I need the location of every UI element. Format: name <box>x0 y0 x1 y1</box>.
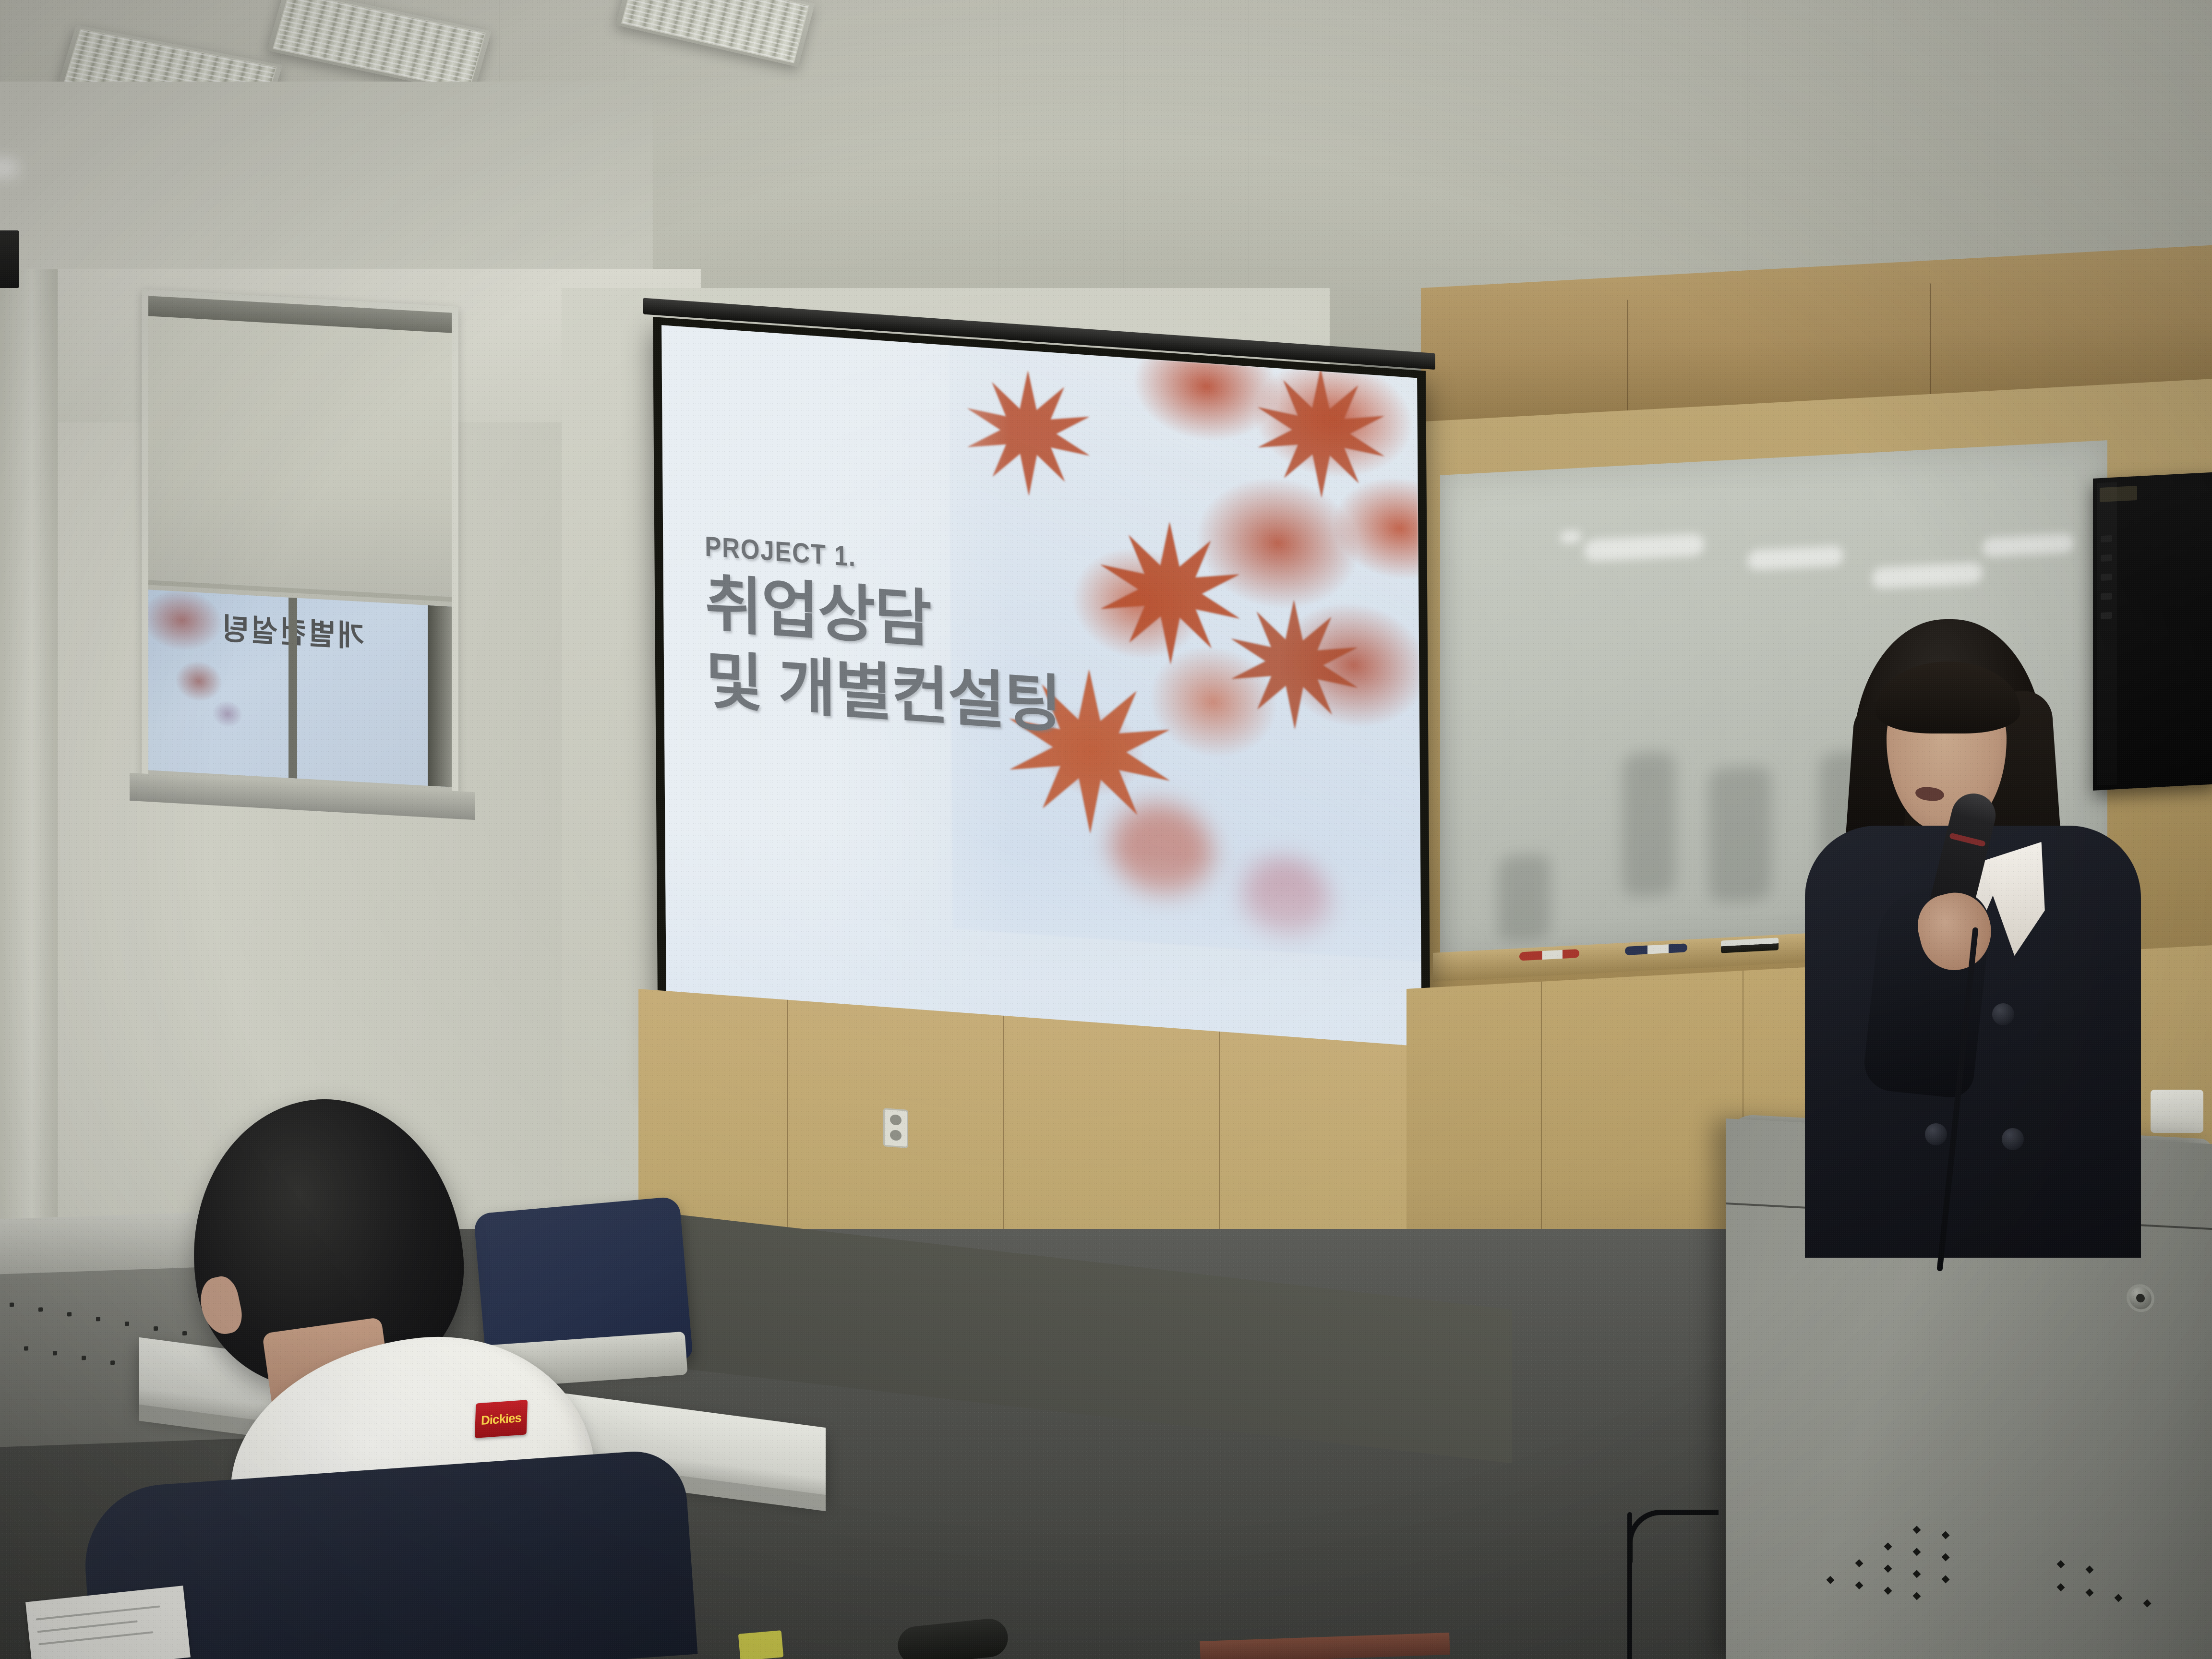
window-blind[interactable] <box>148 316 452 601</box>
presenter <box>1795 619 2160 1253</box>
monitor-logo <box>2100 486 2137 502</box>
slide-text-block: PROJECT 1. 취업상담 및 개별컨설팅 <box>705 530 1061 740</box>
lectern-lock-right[interactable] <box>2127 1284 2154 1313</box>
wall-power-outlet[interactable] <box>883 1108 908 1148</box>
lectern-cable-bend <box>1627 1510 1719 1563</box>
classroom-photo-scene: 개별컨설팅 <box>0 0 2212 1659</box>
red-marker[interactable] <box>1519 949 1579 961</box>
floor-label-sticker <box>738 1630 784 1659</box>
wall-pillar <box>0 269 58 1373</box>
window-glass: 개별컨설팅 <box>148 589 452 787</box>
blue-marker[interactable] <box>1625 943 1687 955</box>
whiteboard-eraser[interactable] <box>1721 938 1779 953</box>
microphone-ring <box>1949 833 1986 847</box>
maple-leaf-icon <box>1249 354 1394 508</box>
hood-brand-text: Dickies <box>481 1410 522 1428</box>
wall-speaker <box>0 230 19 288</box>
hood-brand-label: Dickies <box>475 1400 528 1438</box>
window-sash <box>428 605 452 787</box>
maple-leaf-icon <box>1222 586 1367 740</box>
lectern-cable <box>1627 1512 1632 1659</box>
window: 개별컨설팅 <box>142 289 458 806</box>
window-mullion <box>289 598 297 779</box>
